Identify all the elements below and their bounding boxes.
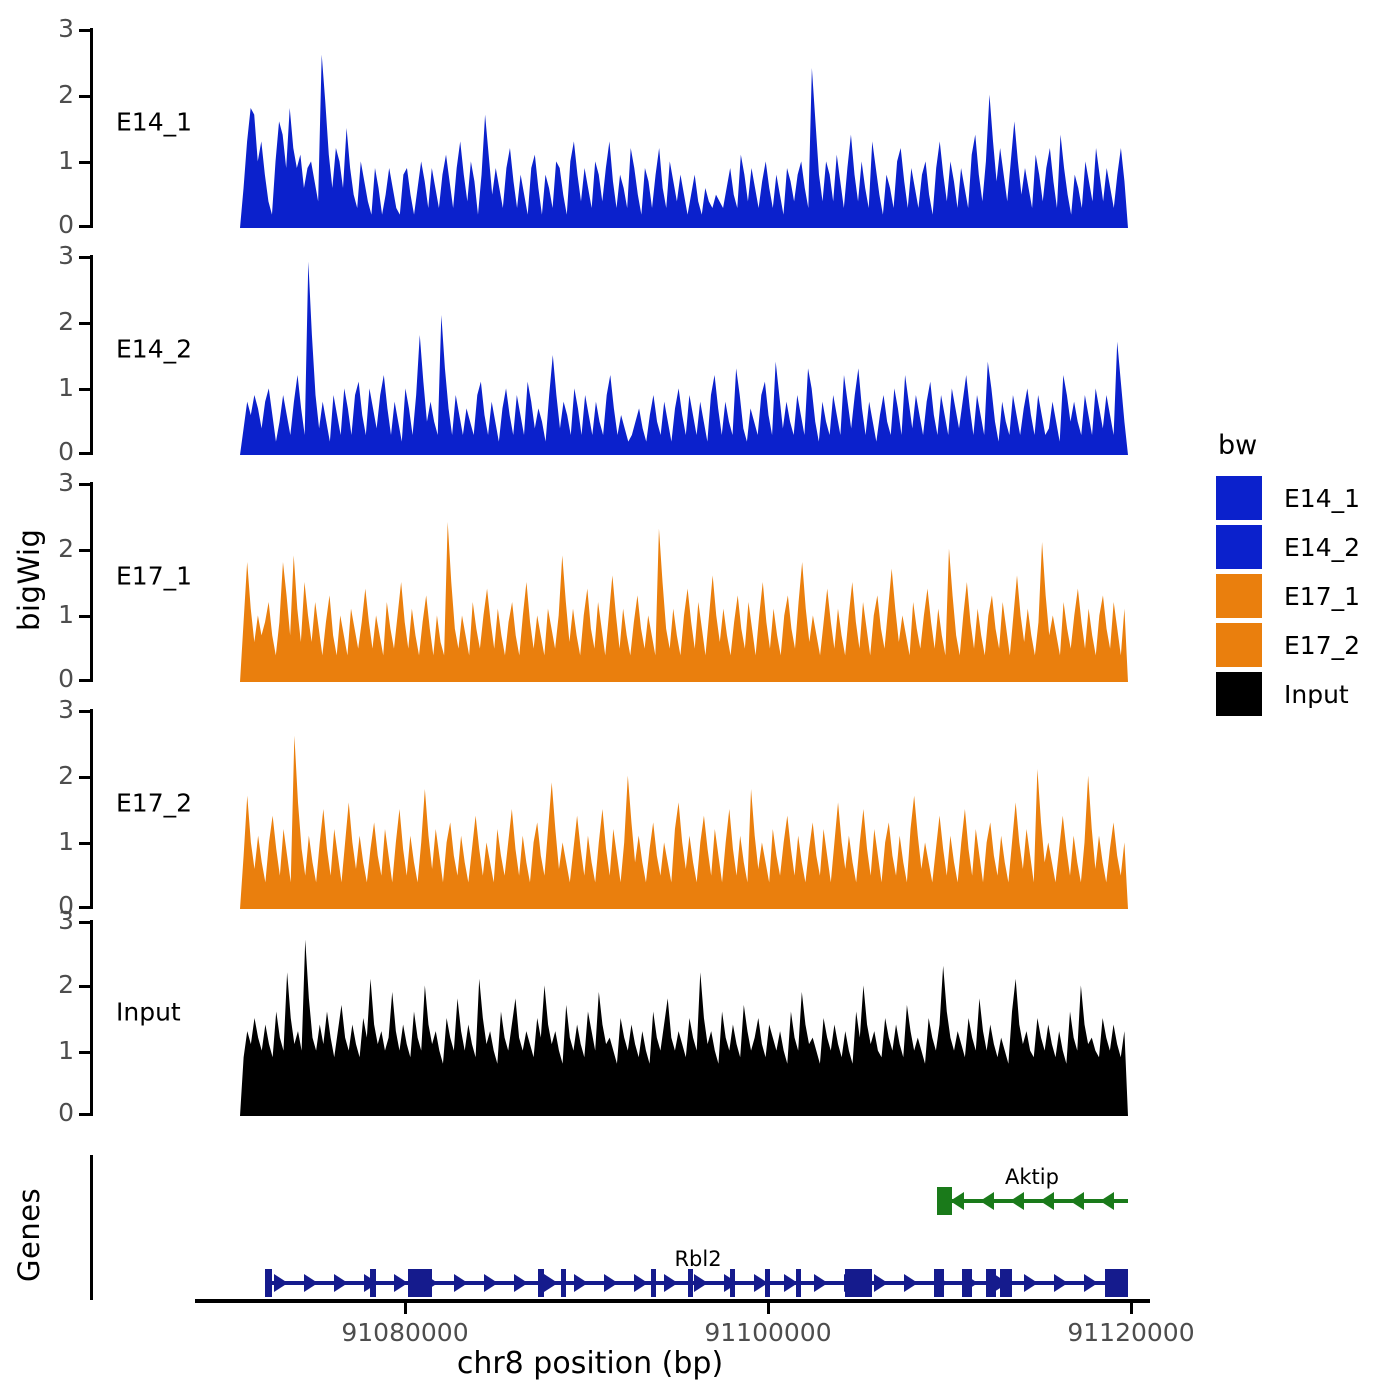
- y-axis-tick: [79, 225, 90, 228]
- legend-item-e17-1[interactable]: E17_1: [1216, 573, 1396, 619]
- gene-strand-arrow: [574, 1274, 588, 1292]
- y-axis-tick: [79, 452, 90, 455]
- y-axis-tick: [79, 710, 90, 713]
- legend-label: E14_2: [1284, 533, 1360, 562]
- signal-area-e17-2: [240, 736, 1128, 909]
- y-axis-tick-label: 3: [58, 470, 74, 495]
- gene-strand-arrow: [784, 1274, 798, 1292]
- gene-strand-arrow: [334, 1274, 348, 1292]
- gene-label-aktip: Aktip: [1005, 1165, 1059, 1189]
- y-axis-tick: [79, 615, 90, 618]
- gene-strand-arrow: [874, 1274, 888, 1292]
- x-axis-tick-label: 91100000: [704, 1318, 831, 1347]
- y-axis-tick-label: 2: [58, 82, 74, 107]
- gene-strand-arrow: [1040, 1192, 1054, 1210]
- track-panel-e17-1: 0123E17_1: [90, 482, 1150, 682]
- signal-plot-area: [93, 28, 1150, 228]
- legend-item-e14-1[interactable]: E14_1: [1216, 475, 1396, 521]
- genes-plot-area: AktipRbl2: [93, 1155, 1150, 1300]
- x-axis-tick-label: 91120000: [1067, 1318, 1194, 1347]
- gene-exon: [370, 1269, 376, 1297]
- gene-exon: [845, 1269, 872, 1297]
- gene-strand-arrow: [544, 1274, 558, 1292]
- y-axis-tick: [79, 322, 90, 325]
- gene-exon: [1000, 1269, 1012, 1297]
- signal-area-e14-2: [240, 262, 1128, 455]
- legend-swatch-icon: [1216, 476, 1262, 520]
- gene-strand-arrow: [904, 1274, 918, 1292]
- y-axis-tick-label: 0: [58, 439, 74, 464]
- gene-exon: [265, 1269, 272, 1297]
- genes-panel: AktipRbl2: [90, 1155, 1150, 1300]
- legend-label: E17_2: [1284, 631, 1360, 660]
- gene-strand-arrow: [1070, 1192, 1084, 1210]
- gene-strand-arrow: [1084, 1274, 1098, 1292]
- legend-swatch-icon: [1216, 525, 1262, 569]
- y-axis-tick-label: 2: [58, 763, 74, 788]
- gene-strand-arrow: [980, 1192, 994, 1210]
- signal-area-e14-1: [240, 55, 1128, 228]
- y-axis-tick: [79, 906, 90, 909]
- x-axis-title: chr8 position (bp): [0, 1346, 1180, 1381]
- y-axis-tick-label: 1: [58, 148, 74, 173]
- track-panel-e14-1: 0123E14_1: [90, 28, 1150, 228]
- y-axis-tick: [79, 921, 90, 924]
- gene-strand-arrow: [1010, 1192, 1024, 1210]
- signal-plot-area: [93, 255, 1150, 455]
- y-axis-tick-label: 1: [58, 829, 74, 854]
- gene-exon: [937, 1187, 952, 1215]
- gene-exon: [962, 1269, 972, 1297]
- legend-swatch-icon: [1216, 574, 1262, 618]
- gene-exon: [934, 1269, 944, 1297]
- gene-strand-arrow: [1024, 1274, 1038, 1292]
- x-axis-line: [195, 1299, 1150, 1303]
- gene-strand-arrow: [394, 1274, 408, 1292]
- gene-strand-arrow: [604, 1274, 618, 1292]
- legend-swatch-icon: [1216, 623, 1262, 667]
- y-axis-tick: [79, 95, 90, 98]
- x-axis-tick-label: 91080000: [341, 1318, 468, 1347]
- gene-strand-arrow: [304, 1274, 318, 1292]
- y-axis-tick-label: 3: [58, 908, 74, 933]
- y-axis-tick-label: 3: [58, 697, 74, 722]
- y-axis-tick-label: 1: [58, 375, 74, 400]
- y-axis-tick: [79, 1051, 90, 1054]
- y-axis-tick: [79, 776, 90, 779]
- legend-item-e14-2[interactable]: E14_2: [1216, 524, 1396, 570]
- x-axis-tick: [767, 1303, 770, 1314]
- legend-items: E14_1E14_2E17_1E17_2Input: [1216, 475, 1396, 717]
- y-axis-tick: [79, 549, 90, 552]
- gene-strand-arrow: [634, 1274, 648, 1292]
- y-axis-tick-label: 1: [58, 602, 74, 627]
- signal-plot-area: [93, 920, 1150, 1116]
- legend-label: Input: [1284, 680, 1349, 709]
- gene-strand-arrow: [814, 1274, 828, 1292]
- signal-plot-area: [93, 709, 1150, 909]
- legend-label: E14_1: [1284, 484, 1360, 513]
- gene-strand-arrow: [694, 1274, 708, 1292]
- gene-strand-arrow: [454, 1274, 468, 1292]
- y-axis-tick: [79, 483, 90, 486]
- y-axis-tick: [79, 29, 90, 32]
- x-axis-tick: [404, 1303, 407, 1314]
- y-axis-tick-label: 0: [58, 1100, 74, 1125]
- y-axis-tick-label: 0: [58, 666, 74, 691]
- signal-area-input: [240, 940, 1128, 1116]
- gene-exon: [765, 1269, 770, 1297]
- gene-strand-arrow: [274, 1274, 288, 1292]
- y-axis-tick-label: 3: [58, 16, 74, 41]
- signal-area-e17-1: [240, 522, 1128, 682]
- y-axis-tick: [79, 256, 90, 259]
- track-panel-e17-2: 0123E17_2: [90, 709, 1150, 909]
- y-axis-title-genes: Genes: [12, 1150, 46, 1320]
- gene-exon: [408, 1269, 432, 1297]
- gene-exon: [730, 1269, 735, 1297]
- gene-strand-arrow: [950, 1192, 964, 1210]
- y-axis-tick: [79, 842, 90, 845]
- y-axis-tick-label: 0: [58, 212, 74, 237]
- y-axis-tick: [79, 161, 90, 164]
- y-axis-tick-label: 2: [58, 972, 74, 997]
- y-axis-tick-label: 2: [58, 309, 74, 334]
- gene-label-rbl2: Rbl2: [674, 1247, 721, 1271]
- y-axis-tick: [79, 1113, 90, 1116]
- y-axis-tick: [79, 679, 90, 682]
- gene-exon: [986, 1269, 996, 1297]
- gene-strand-arrow: [1054, 1274, 1068, 1292]
- signal-plot-area: [93, 482, 1150, 682]
- gene-exon: [1105, 1269, 1128, 1297]
- y-axis-title-bigwig: bigWig: [12, 470, 46, 690]
- gene-strand-arrow: [1100, 1192, 1114, 1210]
- gene-exon: [538, 1269, 544, 1297]
- legend-title: bw: [1218, 430, 1396, 461]
- track-panel-input: 0123Input: [90, 920, 1150, 1116]
- y-axis-tick-label: 1: [58, 1038, 74, 1063]
- y-axis-tick-label: 3: [58, 243, 74, 268]
- legend-swatch-icon: [1216, 672, 1262, 716]
- track-panel-e14-2: 0123E14_2: [90, 255, 1150, 455]
- gene-strand-arrow: [664, 1274, 678, 1292]
- legend-item-input[interactable]: Input: [1216, 671, 1396, 717]
- gene-strand-arrow: [514, 1274, 528, 1292]
- gene-exon: [651, 1269, 656, 1297]
- legend: bw E14_1E14_2E17_1E17_2Input: [1216, 430, 1396, 720]
- gene-exon: [796, 1269, 801, 1297]
- gene-strand-arrow: [484, 1274, 498, 1292]
- y-axis-tick: [79, 985, 90, 988]
- legend-label: E17_1: [1284, 582, 1360, 611]
- x-axis-tick: [1130, 1303, 1133, 1314]
- y-axis-tick-label: 2: [58, 536, 74, 561]
- y-axis-tick: [79, 388, 90, 391]
- gene-exon: [688, 1269, 693, 1297]
- gene-exon: [561, 1269, 566, 1297]
- legend-item-e17-2[interactable]: E17_2: [1216, 622, 1396, 668]
